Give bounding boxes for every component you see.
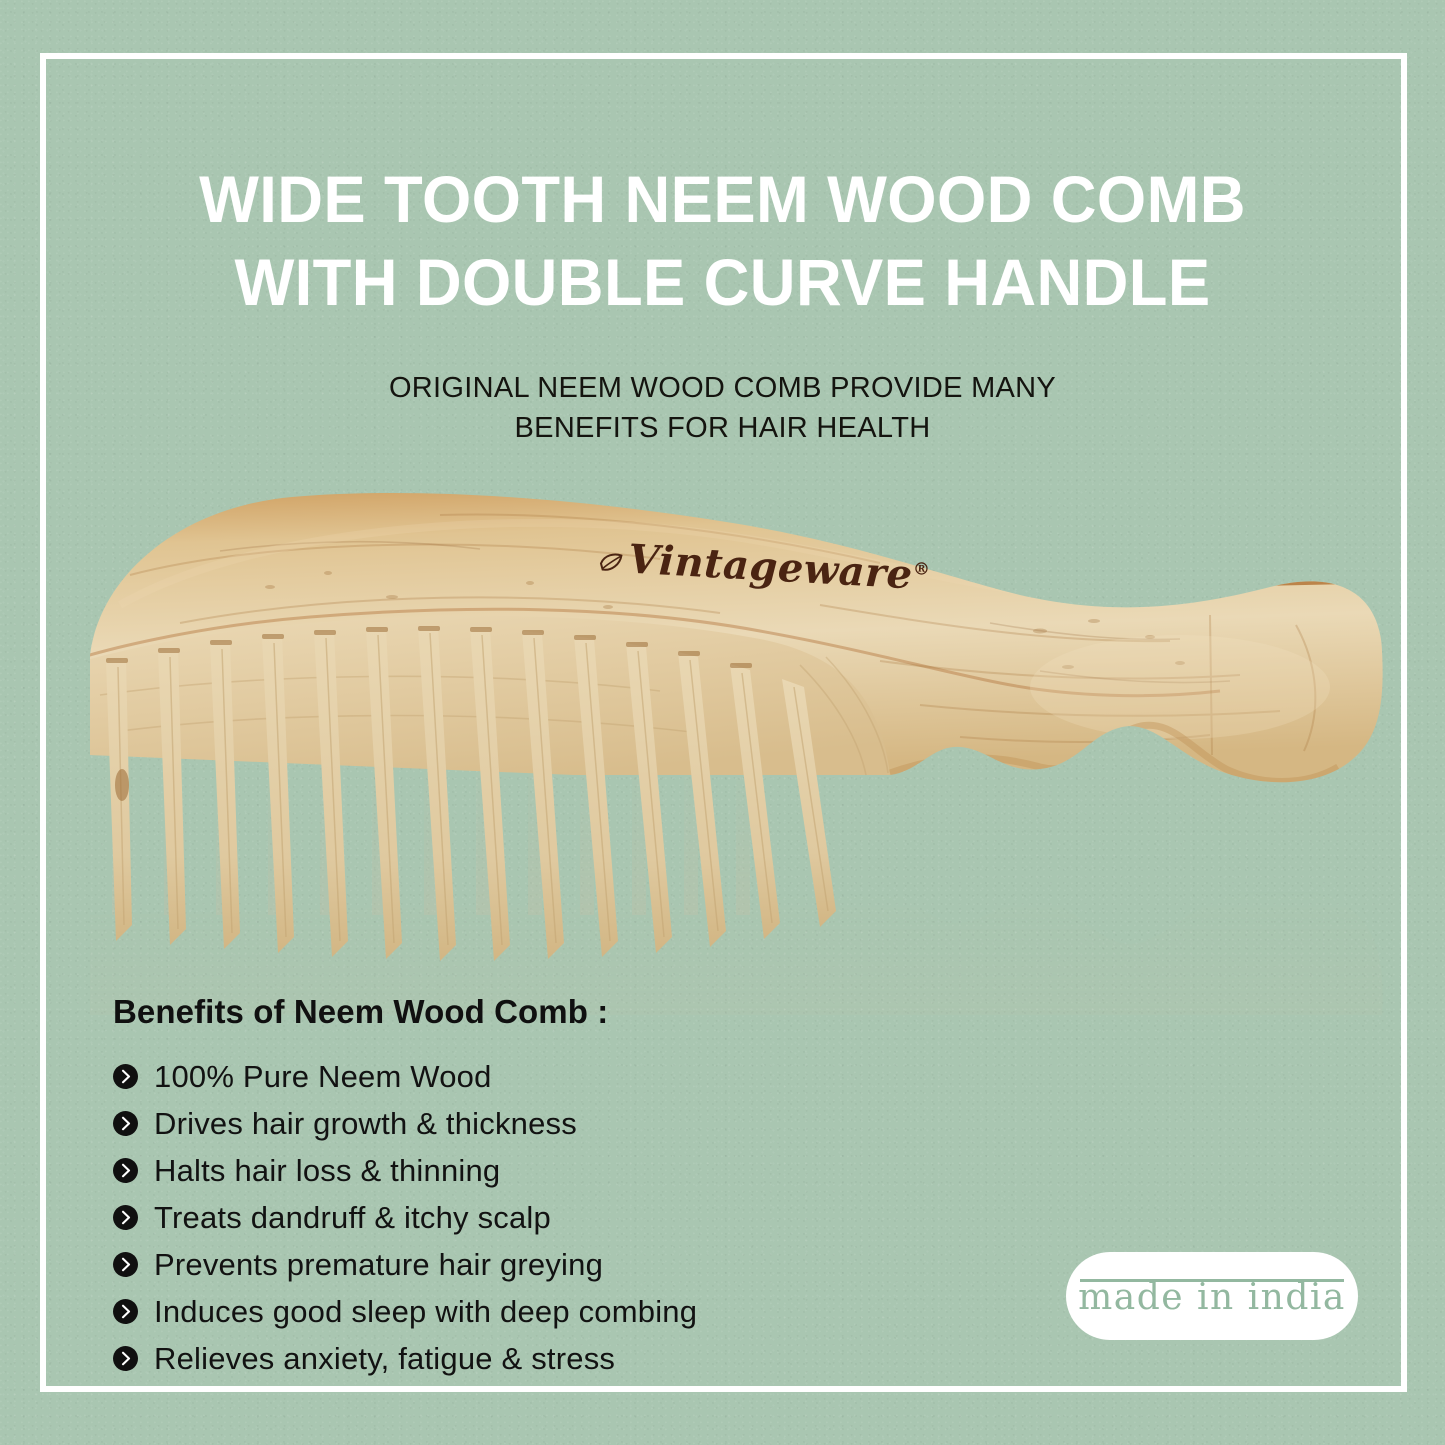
badge-label: made in india [1078, 1275, 1346, 1318]
subtitle-line-1: ORIGINAL NEEM WOOD COMB PROVIDE MANY [0, 368, 1445, 408]
chevron-right-circle-icon [113, 1299, 138, 1324]
benefit-item: 100% Pure Neem Wood [113, 1057, 893, 1095]
subtitle-line-2: BENEFITS FOR HAIR HEALTH [0, 408, 1445, 448]
benefit-label: Relieves anxiety, fatigue & stress [154, 1343, 615, 1374]
benefits-section: Benefits of Neem Wood Comb : 100% Pure N… [113, 993, 893, 1386]
benefit-label: Induces good sleep with deep combing [154, 1296, 697, 1327]
product-image-neem-wood-comb [60, 455, 1390, 1015]
benefit-label: Treats dandruff & itchy scalp [154, 1202, 551, 1233]
chevron-right-circle-icon [113, 1346, 138, 1371]
chevron-right-circle-icon [113, 1158, 138, 1183]
chevron-right-circle-icon [113, 1205, 138, 1230]
benefits-heading: Benefits of Neem Wood Comb : [113, 993, 893, 1031]
chevron-right-circle-icon [113, 1064, 138, 1089]
benefit-label: 100% Pure Neem Wood [154, 1061, 492, 1092]
benefit-label: Halts hair loss & thinning [154, 1155, 500, 1186]
chevron-right-circle-icon [113, 1111, 138, 1136]
title-line-1: WIDE TOOTH NEEM WOOD COMB [29, 158, 1416, 241]
benefit-label: Prevents premature hair greying [154, 1249, 603, 1280]
benefit-item: Prevents premature hair greying [113, 1245, 893, 1283]
title-line-2: WITH DOUBLE CURVE HANDLE [29, 241, 1416, 324]
page-subtitle: ORIGINAL NEEM WOOD COMB PROVIDE MANY BEN… [0, 368, 1445, 448]
benefit-item: Treats dandruff & itchy scalp [113, 1198, 893, 1236]
product-infographic-poster: WIDE TOOTH NEEM WOOD COMB WITH DOUBLE CU… [0, 0, 1445, 1445]
page-title: WIDE TOOTH NEEM WOOD COMB WITH DOUBLE CU… [0, 158, 1445, 323]
benefit-label: Drives hair growth & thickness [154, 1108, 577, 1139]
made-in-india-badge: made in india [1066, 1252, 1358, 1340]
chevron-right-circle-icon [113, 1252, 138, 1277]
badge-label-text: made in india [1078, 1277, 1346, 1318]
benefit-item: Induces good sleep with deep combing [113, 1292, 893, 1330]
benefit-item: Relieves anxiety, fatigue & stress [113, 1339, 893, 1377]
benefit-item: Halts hair loss & thinning [113, 1151, 893, 1189]
devanagari-top-bar [1080, 1279, 1344, 1282]
benefit-item: Drives hair growth & thickness [113, 1104, 893, 1142]
